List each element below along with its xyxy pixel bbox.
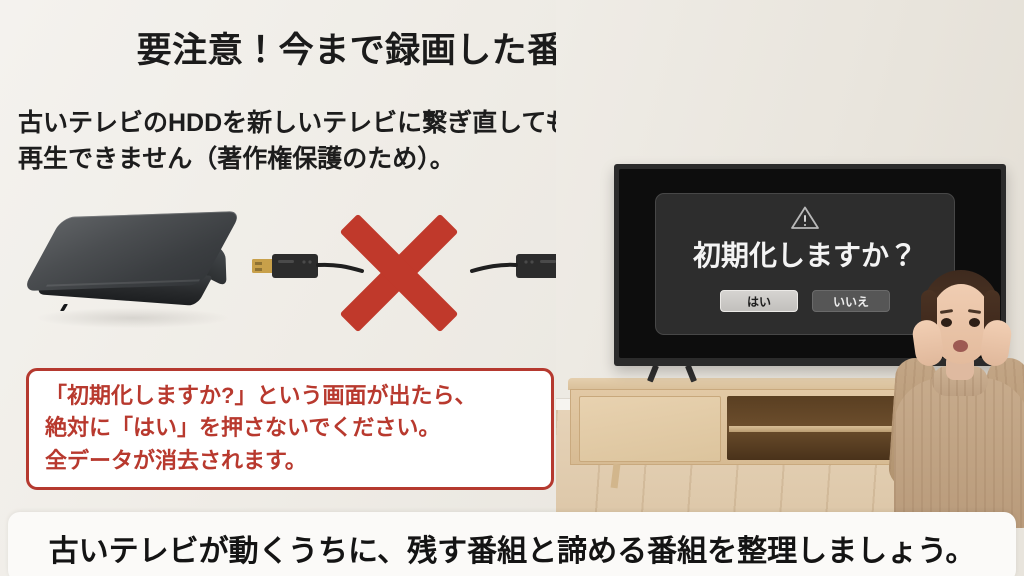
warning-box: 「初期化しますか?」という画面が出たら、 絶対に「はい」を押さないでください。 … (26, 368, 554, 490)
tv-dialog-no-button[interactable]: いいえ (812, 290, 890, 312)
red-x-mark-icon (338, 212, 460, 334)
warning-line-2: 絶対に「はい」を押さないでください。 (45, 412, 476, 444)
woman-eye-right (969, 318, 980, 327)
console-cabinet-door (579, 396, 721, 462)
tv-foot-left (647, 364, 659, 382)
hdd-shadow (38, 308, 228, 328)
living-room-scene: 初期化しますか？ はい いいえ (556, 0, 1024, 528)
warning-triangle-icon (790, 205, 820, 231)
woman-mouth (953, 340, 968, 352)
warning-line-1: 「初期化しますか?」という画面が出たら、 (45, 380, 476, 412)
tv-stand-feet (648, 365, 700, 381)
bottom-banner-text: 古いテレビが動くうちに、残す番組と諦める番組を整理しましょう。 (8, 526, 1016, 570)
bottom-banner: 古いテレビが動くうちに、残す番組と諦める番組を整理しましょう。 (8, 512, 1016, 576)
woman-eye-left (941, 318, 952, 327)
warning-line-3: 全データが消去されます。 (45, 445, 476, 477)
tv-dialog-yes-button[interactable]: はい (720, 290, 798, 312)
console-leg-left (611, 464, 621, 489)
woman-sweater (894, 378, 1024, 528)
warning-box-text: 「初期化しますか?」という画面が出たら、 絶対に「はい」を押さないでください。 … (45, 380, 476, 477)
shocked-woman-image (892, 262, 1024, 528)
tv-foot-right (685, 364, 697, 382)
slide-root: 要注意！今まで録画した番組（HDD）について 古いテレビのHDDを新しいテレビに… (0, 0, 1024, 576)
external-hard-drive-image (32, 212, 242, 337)
